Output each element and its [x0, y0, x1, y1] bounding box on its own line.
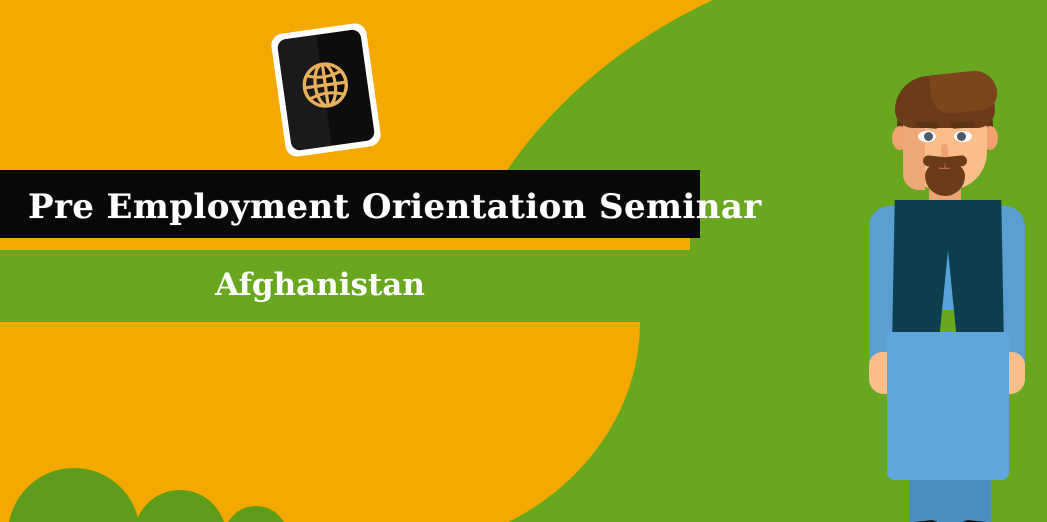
country-name: Afghanistan	[0, 262, 640, 308]
right-pupil	[957, 132, 966, 141]
left-pupil	[924, 132, 933, 141]
man-character-illustration	[845, 60, 1045, 522]
poster-canvas: Pre Employment Orientation Seminar Afgha…	[0, 0, 1047, 522]
tunic	[887, 332, 1009, 480]
moustache-left	[922, 155, 945, 168]
passport-icon	[270, 22, 382, 158]
page-title: Pre Employment Orientation Seminar	[28, 181, 668, 233]
title-banner-accent	[0, 238, 690, 250]
globe-icon	[297, 57, 353, 113]
